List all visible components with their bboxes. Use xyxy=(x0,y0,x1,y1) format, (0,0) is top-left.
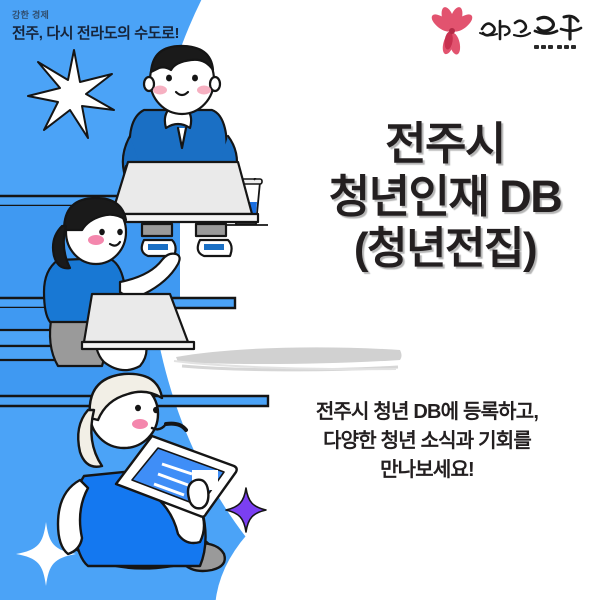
headline-text: 전주, 다시 전라도의 수도로! xyxy=(12,22,179,43)
title-line-1: 전주시 xyxy=(300,118,590,171)
person-bottom-tablet xyxy=(40,352,275,600)
logo-tagline xyxy=(534,45,576,49)
jeonju-city-logo xyxy=(422,5,592,57)
logo-wordmark xyxy=(480,16,581,39)
flower-icon xyxy=(429,6,475,56)
page-title: 전주시 청년인재 DB (청년전집) xyxy=(300,118,590,275)
title-line-3: (청년전집) xyxy=(300,223,590,274)
subtitle-line-3: 만나보세요! xyxy=(262,456,592,485)
subtitle-line-1: 전주시 청년 DB에 등록하고, xyxy=(262,398,592,427)
subtitle-block: 전주시 청년 DB에 등록하고, 다양한 청년 소식과 기회를 만나보세요! xyxy=(262,398,592,484)
subtitle-line-2: 다양한 청년 소식과 기회를 xyxy=(262,427,592,456)
kicker-text: 강한 경제 xyxy=(12,8,49,21)
title-line-2: 청년인재 DB xyxy=(300,171,590,224)
poster-canvas: 강한 경제 전주, 다시 전라도의 수도로! xyxy=(0,0,600,600)
